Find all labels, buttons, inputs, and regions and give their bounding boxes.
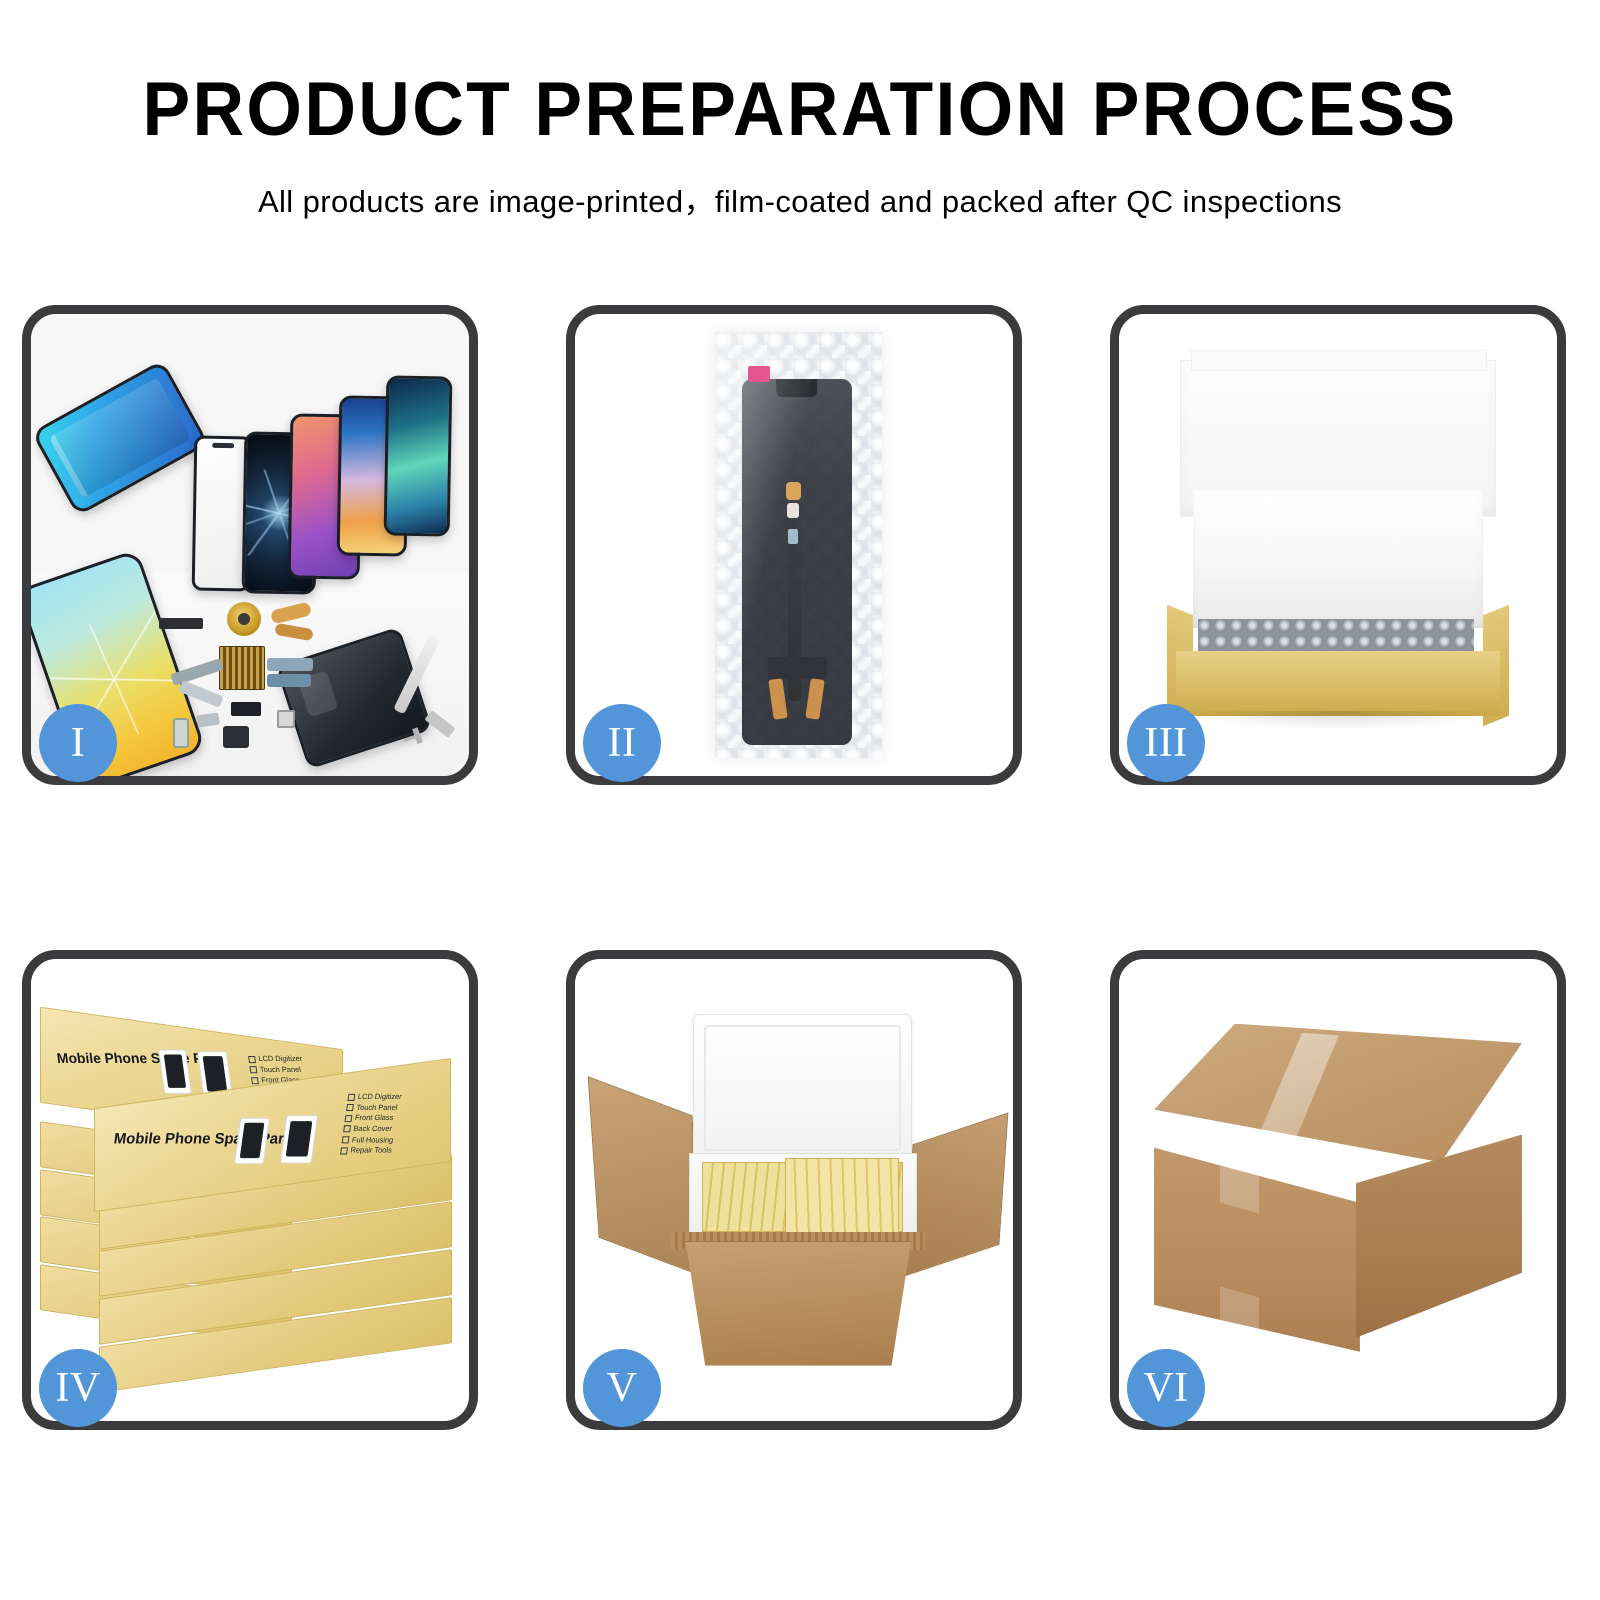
retail-box-checklist-second: LCD Digitizer Touch Panel Front Glass Ba… bbox=[340, 1093, 403, 1157]
vibration-motor-part bbox=[231, 702, 261, 716]
retail-box-brand-text-second: Mobile Phone Spare Parts bbox=[113, 1130, 299, 1147]
wireless-charging-coil-part bbox=[227, 602, 261, 636]
sim-tray-part bbox=[173, 718, 189, 748]
carton-front-wall bbox=[676, 1241, 921, 1366]
step-panel-3[interactable]: III bbox=[1110, 305, 1566, 785]
step-image-2 bbox=[575, 314, 1013, 776]
sealed-carton-side-face bbox=[1356, 1135, 1522, 1338]
step-badge-4: IV bbox=[39, 1349, 117, 1427]
lcd-bottom-bar bbox=[768, 657, 827, 679]
carton-flap-right bbox=[903, 1112, 1008, 1277]
step-badge-5: V bbox=[583, 1349, 661, 1427]
logic-board-chip-part bbox=[219, 646, 265, 690]
step-image-3 bbox=[1119, 314, 1557, 776]
flex-cable-part-3 bbox=[267, 658, 313, 671]
retail-box-phone-thumb-3 bbox=[235, 1118, 271, 1164]
camera-module-part bbox=[277, 710, 295, 728]
speaker-module-part bbox=[223, 726, 249, 748]
earpiece-speaker-part bbox=[159, 618, 203, 629]
step-image-4: Mobile Phone Spare Parts LCD Digitizer T… bbox=[31, 959, 469, 1421]
lcd-connector-white bbox=[787, 503, 799, 518]
step-panel-1[interactable]: I bbox=[22, 305, 478, 785]
carton-seam-upper bbox=[1220, 1147, 1259, 1214]
step-image-6 bbox=[1119, 959, 1557, 1421]
step-badge-2: II bbox=[583, 704, 661, 782]
flex-cable-part-4 bbox=[267, 674, 311, 687]
phone-adhesive-backplate-image bbox=[31, 360, 209, 517]
page-header: PRODUCT PREPARATION PROCESS All products… bbox=[0, 0, 1600, 221]
lcd-foot-right bbox=[805, 678, 825, 720]
styrofoam-cooler-lid bbox=[693, 1014, 912, 1162]
step-image-5 bbox=[575, 959, 1013, 1421]
step-badge-3: III bbox=[1127, 704, 1205, 782]
teal-gradient-phone-image bbox=[384, 375, 453, 536]
lcd-connector-gold bbox=[786, 482, 801, 500]
step-badge-6: VI bbox=[1127, 1349, 1205, 1427]
lcd-connector-blue bbox=[788, 529, 798, 544]
step-image-1 bbox=[31, 314, 469, 776]
white-foam-insert bbox=[1193, 490, 1482, 629]
step-badge-1: I bbox=[39, 704, 117, 782]
drop-shadow bbox=[1185, 711, 1492, 729]
step-panel-4[interactable]: Mobile Phone Spare Parts LCD Digitizer T… bbox=[22, 950, 478, 1430]
sealed-carton-top bbox=[1154, 1024, 1522, 1163]
step-panel-5[interactable]: V bbox=[566, 950, 1022, 1430]
carton-seam-lower bbox=[1220, 1286, 1259, 1348]
bubble-wrap-sleeve bbox=[715, 332, 881, 757]
kraft-tray-front-wall bbox=[1176, 651, 1500, 716]
retail-box-stack: Mobile Phone Spare Parts LCD Digitizer T… bbox=[40, 996, 460, 1393]
step-panel-6[interactable]: VI bbox=[1110, 950, 1566, 1430]
checklist-item: Repair Tools bbox=[340, 1146, 395, 1157]
checklist-item: Touch Panel bbox=[249, 1065, 304, 1076]
retail-box-phone-thumb-4 bbox=[281, 1115, 319, 1163]
page-title: PRODUCT PREPARATION PROCESS bbox=[48, 72, 1552, 148]
page-subtitle: All products are image-printed，film-coat… bbox=[0, 176, 1600, 221]
process-step-grid: I II bbox=[22, 305, 1578, 1430]
pink-qc-sticker bbox=[748, 366, 770, 382]
checklist-item: LCD Digitizer bbox=[347, 1093, 402, 1104]
checklist-item: LCD Digitizer bbox=[247, 1054, 302, 1065]
lcd-foot-left bbox=[769, 678, 789, 720]
step-panel-2[interactable]: II bbox=[566, 305, 1022, 785]
checklist-item: Back Cover bbox=[343, 1125, 398, 1136]
wrapped-lcd-assembly bbox=[742, 379, 852, 745]
packed-gold-boxes-right bbox=[785, 1158, 899, 1237]
